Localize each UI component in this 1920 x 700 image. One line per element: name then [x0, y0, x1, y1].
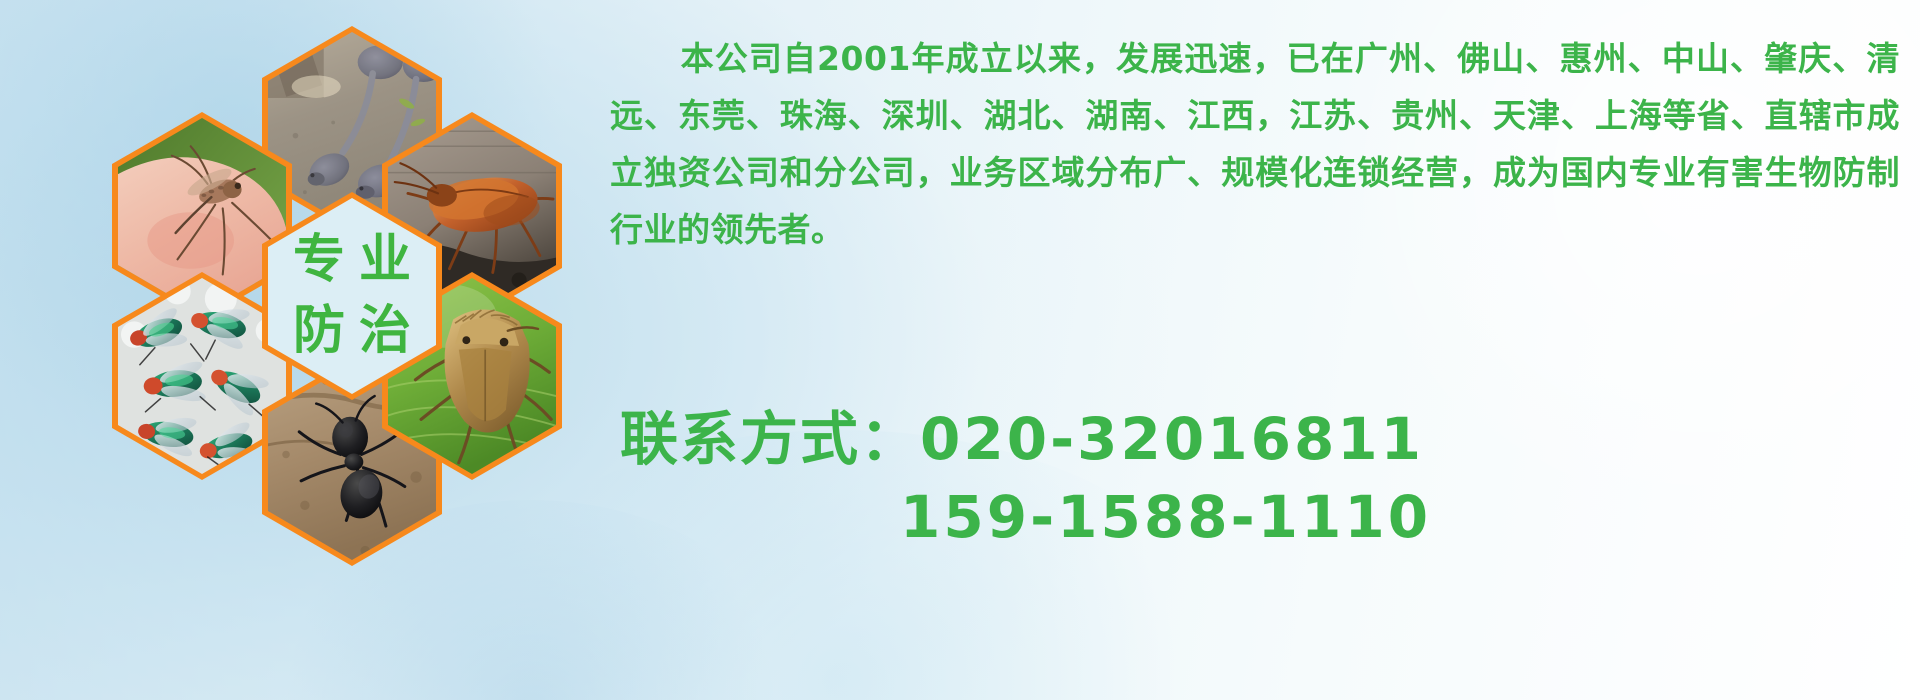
copy-block: 本公司自2001年成立以来，发展迅速，已在广州、佛山、惠州、中山、肇庆、清远、东…	[610, 30, 1900, 258]
honeycomb-title-line1: 专业	[279, 233, 425, 288]
promo-banner: 专业 防治 本公司自2001年成立以来，发展迅速，已在广州、佛山、惠州、中山、肇…	[0, 0, 1920, 700]
contact-label: 联系方式：	[620, 405, 920, 473]
contact-block: 联系方式：020-32016811 159-1588-1110	[610, 400, 1900, 556]
company-intro-paragraph: 本公司自2001年成立以来，发展迅速，已在广州、佛山、惠州、中山、肇庆、清远、东…	[610, 30, 1900, 258]
contact-phone-primary[interactable]: 020-32016811	[920, 405, 1424, 473]
paragraph-text: 本公司自2001年成立以来，发展迅速，已在广州、佛山、惠州、中山、肇庆、清远、东…	[610, 39, 1900, 249]
hex-inner-flies	[118, 278, 286, 474]
contact-secondary-line[interactable]: 159-1588-1110	[610, 478, 1900, 556]
honeycomb-title-line2: 防治	[279, 304, 425, 359]
contact-phone-secondary[interactable]: 159-1588-1110	[900, 483, 1431, 551]
contact-primary-line[interactable]: 联系方式：020-32016811	[610, 400, 1900, 478]
honeycomb-gallery: 专业 防治	[0, 0, 600, 700]
flies-photo	[118, 278, 286, 474]
hex-inner-title: 专业 防治	[268, 198, 436, 394]
